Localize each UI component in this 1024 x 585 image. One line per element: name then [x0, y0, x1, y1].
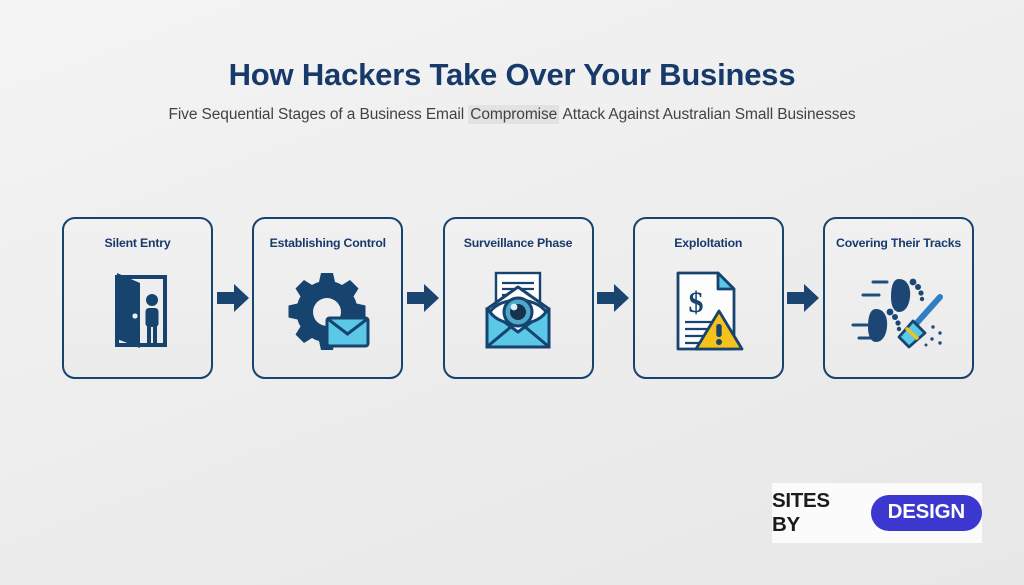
gear-and-envelope-icon [254, 250, 401, 377]
logo-text-sites-by: SITES BY [772, 489, 862, 537]
flow-arrow-2 [407, 281, 439, 315]
right-arrow-icon [217, 281, 249, 315]
stage-card-exploitation[interactable]: Exploltation $ [633, 217, 784, 379]
footprints-and-broom-icon [825, 250, 972, 377]
right-arrow-icon [597, 281, 629, 315]
header: How Hackers Take Over Your Business Five… [0, 58, 1024, 124]
stage-card-establishing-control[interactable]: Establishing Control [252, 217, 403, 379]
stage-card-covering-tracks[interactable]: Covering Their Tracks [823, 217, 974, 379]
logo-text-design: DESIGN [888, 502, 965, 523]
right-arrow-icon [787, 281, 819, 315]
invoice-dollar-warning-icon: $ [635, 250, 782, 377]
subtitle-text-before: Five Sequential Stages of a Business Ema… [168, 106, 468, 123]
stage-label: Surveillance Phase [464, 236, 573, 250]
subtitle-highlight: Compromise [468, 105, 559, 124]
flow-arrow-3 [597, 281, 629, 315]
brand-logo[interactable]: SITES BY DESIGN [772, 483, 982, 543]
stage-card-silent-entry[interactable]: Silent Entry [62, 217, 213, 379]
page-title: How Hackers Take Over Your Business [0, 58, 1024, 92]
stage-label: Establishing Control [270, 236, 386, 250]
svg-text:$: $ [689, 286, 704, 319]
flow-arrow-1 [217, 281, 249, 315]
eye-over-open-envelope-icon [445, 250, 592, 377]
open-door-with-person-icon [64, 250, 211, 377]
right-arrow-icon [407, 281, 439, 315]
attack-stage-flow: Silent Entry [62, 216, 974, 380]
logo-pill: DESIGN [871, 495, 982, 531]
stage-card-surveillance-phase[interactable]: Surveillance Phase [443, 217, 594, 379]
infographic-canvas: How Hackers Take Over Your Business Five… [0, 0, 1024, 585]
subtitle-text-after: Attack Against Australian Small Business… [559, 106, 855, 123]
page-subtitle: Five Sequential Stages of a Business Ema… [0, 106, 1024, 124]
stage-label: Exploltation [674, 236, 742, 250]
stage-label: Silent Entry [105, 236, 171, 250]
flow-arrow-4 [787, 281, 819, 315]
stage-label: Covering Their Tracks [836, 236, 961, 250]
